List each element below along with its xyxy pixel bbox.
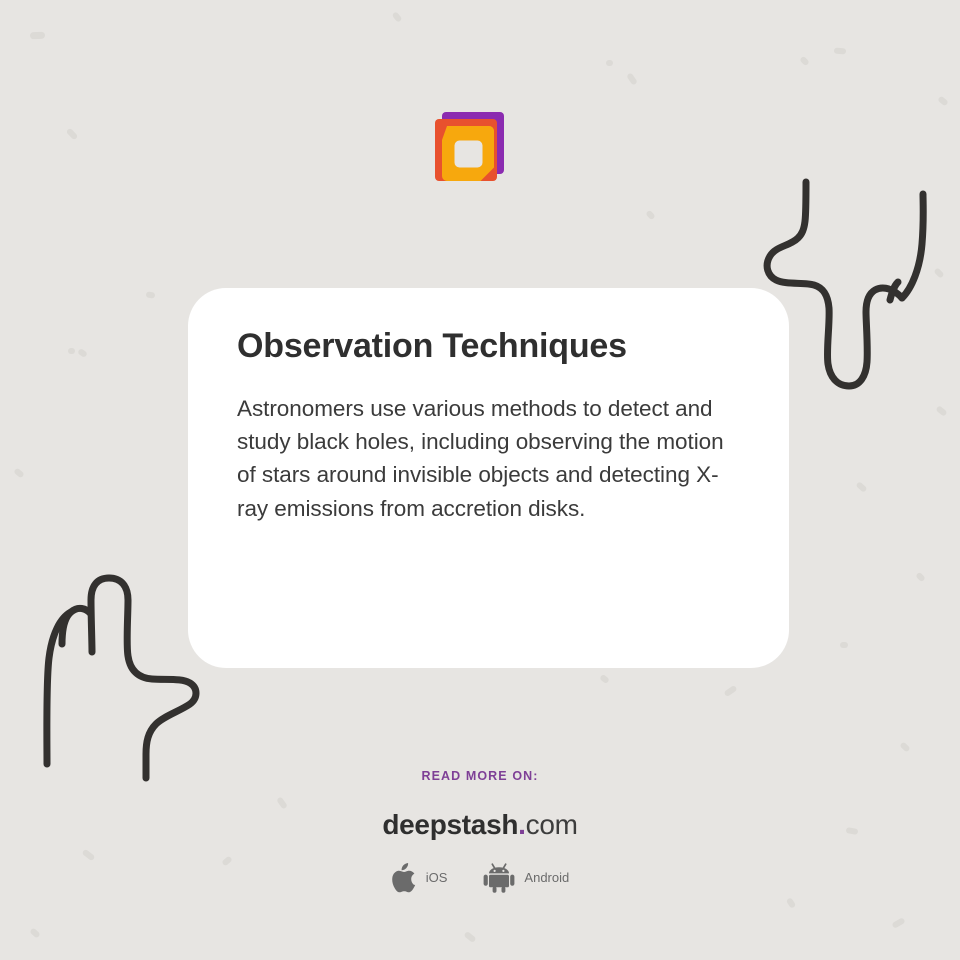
confetti-speck: [645, 210, 655, 221]
confetti-speck: [68, 348, 75, 354]
confetti-speck: [77, 348, 88, 358]
confetti-speck: [463, 931, 476, 943]
confetti-speck: [855, 481, 867, 493]
confetti-speck: [937, 96, 949, 107]
android-icon: [483, 863, 515, 893]
card-body-text: Astronomers use various methods to detec…: [237, 392, 741, 525]
deepstash-logo-icon: [425, 100, 521, 196]
confetti-speck: [29, 927, 40, 938]
confetti-speck: [834, 48, 846, 55]
ios-badge[interactable]: iOS: [391, 863, 448, 893]
confetti-speck: [891, 917, 905, 929]
confetti-speck: [392, 11, 403, 23]
android-label: Android: [524, 870, 569, 886]
brand-wordmark[interactable]: deepstash.com: [0, 808, 960, 842]
confetti-speck: [933, 267, 944, 278]
confetti-speck: [799, 56, 810, 67]
page-title: Observation Techniques: [237, 324, 741, 368]
confetti-speck: [146, 291, 156, 298]
brand-tld: com: [526, 809, 578, 840]
confetti-speck: [30, 32, 45, 40]
confetti-speck: [13, 467, 25, 478]
footer: READ MORE ON: deepstash.com iOS: [0, 766, 960, 893]
confetti-speck: [935, 405, 947, 417]
confetti-speck: [66, 128, 79, 141]
poster-canvas: Observation Techniques Astronomers use v…: [0, 0, 960, 960]
apple-icon: [391, 863, 417, 893]
confetti-speck: [915, 572, 926, 583]
android-badge[interactable]: Android: [483, 863, 569, 893]
read-more-label: READ MORE ON:: [0, 766, 960, 786]
confetti-speck: [899, 741, 910, 752]
confetti-speck: [626, 72, 638, 85]
ios-label: iOS: [426, 870, 448, 886]
confetti-speck: [606, 60, 613, 66]
confetti-speck: [723, 685, 737, 697]
app-store-badges: iOS: [0, 863, 960, 893]
brand-dot: .: [518, 809, 525, 840]
confetti-speck: [786, 897, 797, 909]
pointing-hand-icon-bottom-left: [18, 556, 208, 788]
confetti-speck: [840, 642, 848, 648]
brand-name: deepstash: [382, 809, 518, 840]
content-card: Observation Techniques Astronomers use v…: [188, 288, 789, 668]
confetti-speck: [599, 674, 610, 684]
